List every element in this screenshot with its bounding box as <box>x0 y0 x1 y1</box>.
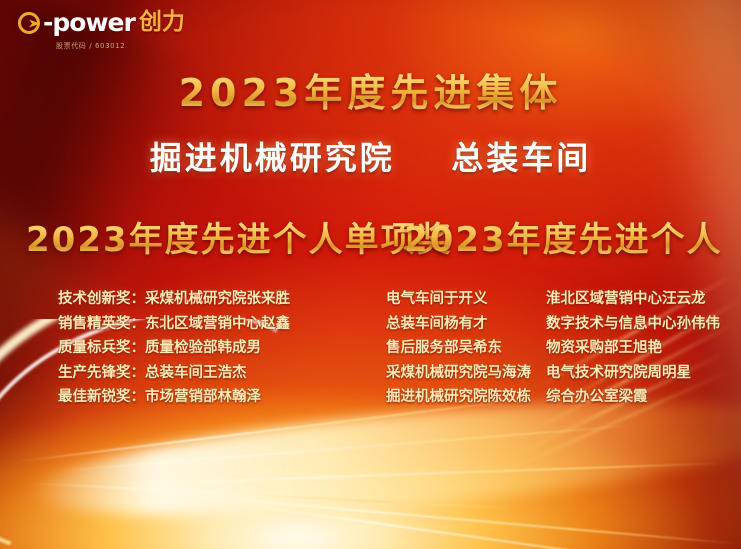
list-item: 质量标兵奖：质量检验部韩成男 <box>58 336 298 361</box>
poster-content: 2023年度先进集体 掘进机械研究院 总装车间 2023年度先进个人单项奖 20… <box>0 0 741 549</box>
person-name: 售后服务部吴希东 <box>386 336 546 361</box>
award-poster: -power 创力 股票代码 / 603012 2023年度先进集体 掘进机械研… <box>0 0 741 549</box>
person-name: 电气车间于开义 <box>386 287 546 312</box>
list-item: 生产先锋奖：总装车间王浩杰 <box>58 361 298 386</box>
person-name: 电气技术研究院周明星 <box>546 361 716 386</box>
award-list-special: 技术创新奖：采煤机械研究院张来胜 销售精英奖：东北区域营销中心赵鑫 质量标兵奖：… <box>58 287 298 410</box>
person-name: 综合办公室梁霞 <box>546 385 716 410</box>
list-item: 掘进机械研究院陈效栋 综合办公室梁霞 <box>386 385 716 410</box>
list-item: 售后服务部吴希东 物资采购部王旭艳 <box>386 336 716 361</box>
list-item: 最佳新锐奖：市场营销部林翰泽 <box>58 385 298 410</box>
person-name: 淮北区域营销中心汪云龙 <box>546 287 716 312</box>
list-item: 电气车间于开义 淮北区域营销中心汪云龙 <box>386 287 716 312</box>
person-name: 数字技术与信息中心孙伟伟 <box>546 312 716 337</box>
section-heading-individual-special-awards: 2023年度先进个人单项奖 <box>26 212 453 261</box>
award-list-individuals: 电气车间于开义 淮北区域营销中心汪云龙 总装车间杨有才 数字技术与信息中心孙伟伟… <box>386 287 716 410</box>
section-heading-advanced-individuals: 2023年度先进个人 <box>404 212 723 261</box>
list-item: 采煤机械研究院马海涛 电气技术研究院周明星 <box>386 361 716 386</box>
list-item: 总装车间杨有才 数字技术与信息中心孙伟伟 <box>386 312 716 337</box>
person-name: 物资采购部王旭艳 <box>546 336 716 361</box>
list-item: 技术创新奖：采煤机械研究院张来胜 <box>58 287 298 312</box>
page-title: 2023年度先进集体 <box>0 62 741 117</box>
person-name: 掘进机械研究院陈效栋 <box>386 385 546 410</box>
collective-winners: 掘进机械研究院 总装车间 <box>0 133 741 179</box>
section-headings: 2023年度先进个人单项奖 2023年度先进个人 <box>0 212 741 264</box>
person-name: 总装车间杨有才 <box>386 312 546 337</box>
person-name: 采煤机械研究院马海涛 <box>386 361 546 386</box>
list-item: 销售精英奖：东北区域营销中心赵鑫 <box>58 312 298 337</box>
